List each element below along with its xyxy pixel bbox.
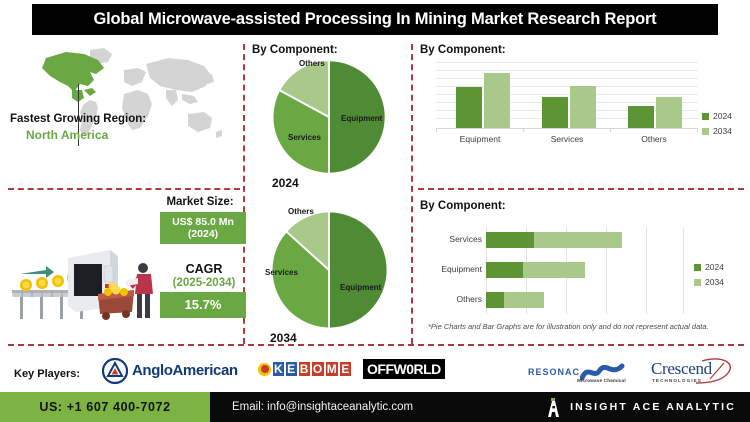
vbar-legend: 2024 2034 [702,111,732,141]
page-title: Global Microwave-assisted Processing In … [94,10,657,29]
cagr-badge: 15.7% [160,292,246,318]
infographic-page: Global Microwave-assisted Processing In … [0,0,750,422]
key-players-label: Key Players: [14,368,80,380]
legend-swatch-2024 [694,264,701,271]
legend-swatch-2034 [694,279,701,286]
cagr-title: CAGR [160,262,248,276]
pie-2024-year: 2024 [272,176,299,190]
pie-2034-label-services: Services [265,268,298,277]
vbar-group-services [542,86,596,128]
legend-label-2024: 2024 [705,262,724,272]
gridline [683,228,684,314]
mining-conveyor-illustration-icon [6,228,158,328]
hbar-equipment-2024 [486,262,523,278]
vbar-equipment-2034 [484,73,510,128]
pie-2034-year: 2034 [270,331,297,345]
hbar-legend: 2024 2034 [694,262,724,292]
anglo-american-logo-icon [102,358,128,384]
kebome-dot-icon [258,363,271,376]
vbar-axis-tick [523,128,524,132]
brand-name: INSIGHT ACE ANALYTIC [570,401,736,413]
kebome-letter: M [326,362,339,376]
vbar-category-services: Services [532,134,602,144]
legend-item-2024: 2024 [702,111,732,121]
hbar-category-others: Others [416,294,482,304]
gridline [646,228,647,314]
pie-2034-label-others: Others [288,207,314,216]
vbar-others-2024 [628,106,654,128]
hbar-services-2024 [486,232,534,248]
footer-phone-block[interactable]: US: +1 607 400-7072 [0,392,210,422]
vbar-others-2034 [656,97,682,128]
legend-item-2034: 2034 [702,126,732,136]
kebome-letter: O [312,362,324,376]
hbar-category-services: Services [416,234,482,244]
crescend-logo-text: Crescend [651,359,712,379]
vbar-axis-tick [610,128,611,132]
footer-bar: US: +1 607 400-7072 Email: info@insighta… [0,392,750,422]
fastest-growing-region-label: Fastest Growing Region: [10,113,146,125]
vbar-category-equipment: Equipment [445,134,515,144]
market-size-badge: US$ 85.0 Mn (2024) [160,212,246,244]
kebome-letter: E [340,362,351,376]
hbar-category-equipment: Equipment [416,264,482,274]
market-size-year: (2024) [188,228,218,240]
hbar-section-title: By Component: [420,200,506,212]
vbar-equipment-2024 [456,87,482,128]
vbar-section-title: By Component: [420,44,506,56]
divider-vertical-right [411,44,413,344]
microwave-chemical-logo-text: Microwave Chemical [577,378,626,383]
legend-label-2034: 2034 [713,126,732,136]
cagr-years: (2025-2034) [158,277,250,289]
vbar-category-others: Others [619,134,689,144]
vertical-bar-chart: Equipment Services Others [436,62,698,134]
vbar-axis-line [436,128,698,129]
legend-item-2034: 2034 [694,277,724,287]
footer-phone: US: +1 607 400-7072 [39,400,170,414]
legend-swatch-2034 [702,128,709,135]
anglo-american-logo-text: AngloAmerican [132,362,238,379]
kebome-letter: B [299,362,310,376]
header-bar: Global Microwave-assisted Processing In … [32,4,718,35]
pie-2034-label-equipment: Equipment [340,283,381,292]
gridline [436,70,698,71]
market-size-value: US$ 85.0 Mn [172,216,234,228]
chart-disclaimer-note: *Pie Charts and Bar Graphs are for illus… [428,322,709,331]
vbar-services-2034 [570,86,596,128]
horizontal-bar-chart [486,228,684,314]
kebome-logo: K E B O M E [258,362,351,376]
pie-2024-label-equipment: Equipment [341,114,382,123]
crescend-logo-subtitle: TECHNOLOGIES [652,378,702,383]
hbar-services-2034 [534,232,622,248]
footer-email[interactable]: Email: info@insightaceanalytic.com [232,401,413,413]
vbar-group-others [628,97,682,128]
market-size-title: Market Size: [152,196,248,208]
fastest-growing-region-value: North America [26,128,108,142]
hbar-row-services [486,232,622,248]
vbar-axis-tick [436,128,437,132]
hbar-equipment-2034 [523,262,585,278]
legend-swatch-2024 [702,113,709,120]
pie-2024-label-services: Services [288,133,321,142]
legend-label-2024: 2024 [713,111,732,121]
vbar-axis-tick [697,128,698,132]
pie-2024-label-others: Others [299,59,325,68]
hbar-others-2024 [486,292,504,308]
vbar-plot-area [436,62,698,128]
hbar-others-2034 [504,292,544,308]
legend-item-2024: 2024 [694,262,724,272]
kebome-letter: E [286,362,297,376]
divider-horizontal-left [8,188,240,190]
offworld-logo: OFFW0RLD [363,359,445,379]
vbar-services-2024 [542,97,568,128]
footer-email-block: Email: info@insightaceanalytic.com INSIG… [210,392,750,422]
divider-horizontal-bottom [8,344,744,346]
insight-ace-logo-icon [545,398,562,417]
brand-block: INSIGHT ACE ANALYTIC [545,398,736,417]
gridline [436,62,698,63]
divider-horizontal-right [418,188,744,190]
resonac-logo: RESONAC [528,367,580,377]
vbar-group-equipment [456,73,510,128]
kebome-letter: K [273,362,284,376]
hbar-row-others [486,292,544,308]
hbar-row-equipment [486,262,585,278]
legend-label-2034: 2034 [705,277,724,287]
pie-section-title: By Component: [252,44,338,56]
